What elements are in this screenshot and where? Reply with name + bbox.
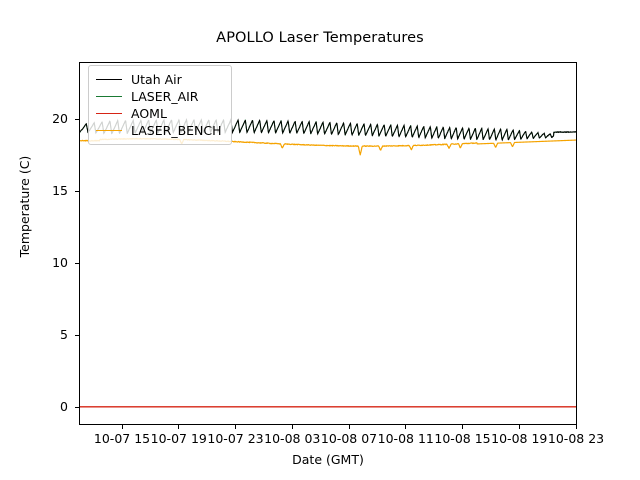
legend-item[interactable]: LASER_BENCH xyxy=(96,122,222,139)
x-tick-label: 10-08 03 xyxy=(264,431,320,446)
x-tick-mark xyxy=(122,425,123,429)
x-tick-mark xyxy=(292,425,293,429)
legend-color-swatch xyxy=(96,130,122,131)
x-tick-label: 10-08 23 xyxy=(548,431,604,446)
legend-item-label: Utah Air xyxy=(131,72,182,87)
x-tick-label: 10-08 19 xyxy=(491,431,547,446)
legend-item[interactable]: AOML xyxy=(96,105,222,122)
x-tick-label: 10-07 15 xyxy=(94,431,150,446)
chart-legend[interactable]: Utah AirLASER_AIRAOMLLASER_BENCH xyxy=(88,65,232,145)
y-tick-label: 5 xyxy=(8,327,68,342)
x-tick-label: 10-08 11 xyxy=(378,431,434,446)
legend-item-label: LASER_AIR xyxy=(131,89,199,104)
legend-item[interactable]: LASER_AIR xyxy=(96,88,222,105)
legend-color-swatch xyxy=(96,113,122,114)
x-tick-mark xyxy=(405,425,406,429)
chart-title: APOLLO Laser Temperatures xyxy=(0,30,640,46)
matplotlib-figure: APOLLO Laser Temperatures Temperature (C… xyxy=(0,0,640,480)
x-tick-mark xyxy=(178,425,179,429)
legend-item-label: AOML xyxy=(131,106,167,121)
x-tick-label: 10-07 23 xyxy=(207,431,263,446)
x-tick-label: 10-08 07 xyxy=(321,431,377,446)
y-tick-label: 10 xyxy=(8,255,68,270)
x-tick-mark xyxy=(235,425,236,429)
legend-item-label: LASER_BENCH xyxy=(131,123,222,138)
legend-color-swatch xyxy=(96,79,122,80)
x-tick-label: 10-07 19 xyxy=(151,431,207,446)
x-tick-mark xyxy=(519,425,520,429)
x-tick-mark xyxy=(576,425,577,429)
legend-color-swatch xyxy=(96,96,122,97)
x-axis-label: Date (GMT) xyxy=(79,452,577,467)
legend-item[interactable]: Utah Air xyxy=(96,71,222,88)
y-tick-label: 20 xyxy=(8,111,68,126)
x-tick-mark xyxy=(349,425,350,429)
y-tick-label: 0 xyxy=(8,399,68,414)
x-tick-label: 10-08 15 xyxy=(434,431,490,446)
x-tick-mark xyxy=(462,425,463,429)
y-tick-label: 15 xyxy=(8,183,68,198)
